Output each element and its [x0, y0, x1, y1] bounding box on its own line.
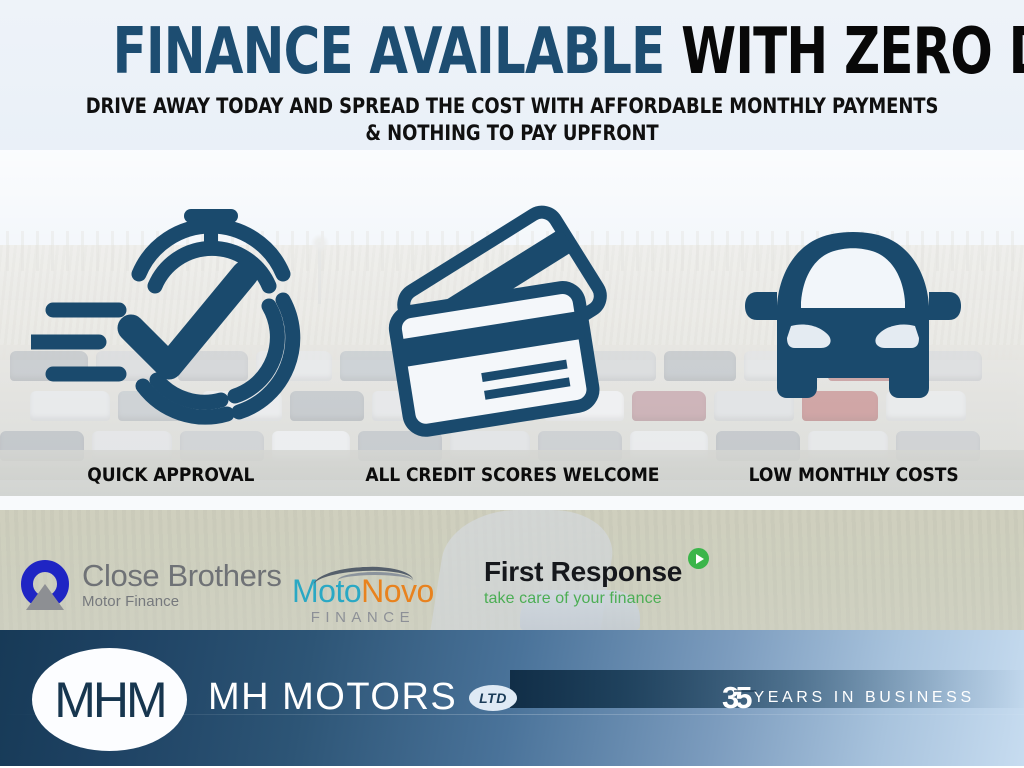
close-brothers-ring-mountain-icon	[18, 558, 72, 612]
subheadline: DRIVE AWAY TODAY AND SPREAD THE COST WIT…	[74, 93, 950, 147]
stopwatch-check-icon	[31, 200, 311, 460]
feature-label: ALL CREDIT SCORES WELCOME	[365, 464, 659, 486]
feature-art	[733, 196, 973, 464]
years-in-business: 35 YEARS IN BUSINESS	[722, 682, 975, 713]
finance-partner-logos: Close Brothers Motor Finance MotoNovo FI…	[0, 552, 1024, 630]
feature-row: QUICK APPROVAL	[0, 196, 1024, 526]
years-label: YEARS IN BUSINESS	[753, 689, 974, 707]
partner-logo-close-brothers: Close Brothers Motor Finance	[18, 558, 281, 612]
ltd-badge: LTD	[469, 685, 517, 711]
page-title: FINANCE AVAILABLE WITH ZERO DEPOSIT	[113, 22, 912, 83]
brand-name: MH MOTORS	[208, 678, 457, 716]
poster-canvas: FINANCE AVAILABLE WITH ZERO DEPOSIT DRIV…	[0, 0, 1024, 768]
partner-tagline: FINANCE	[311, 609, 415, 626]
headline-block: FINANCE AVAILABLE WITH ZERO DEPOSIT DRIV…	[0, 0, 1024, 150]
partner-tagline: take care of your finance	[484, 590, 662, 608]
headline-blue-part: FINANCE AVAILABLE	[113, 15, 665, 89]
credit-cards-icon	[382, 200, 642, 460]
partner-name: First Response	[484, 558, 682, 586]
motonovo-car-swoosh-icon	[307, 560, 419, 578]
feature-label: QUICK APPROVAL	[87, 464, 254, 486]
headline-black-part: WITH ZERO DEPOSIT	[664, 15, 1024, 89]
car-front-icon	[733, 220, 973, 440]
ltd-badge-label: LTD	[479, 690, 507, 706]
years-number: 35	[722, 682, 748, 713]
green-play-icon	[688, 548, 709, 569]
mhm-logo-oval: MHM	[32, 648, 187, 751]
partner-logo-motonovo: MotoNovo FINANCE	[292, 560, 434, 626]
feature-art	[382, 196, 642, 464]
partner-logo-first-response: First Response take care of your finance	[484, 558, 709, 608]
partner-name: Close Brothers	[82, 560, 281, 591]
feature-quick-approval: QUICK APPROVAL	[0, 196, 341, 526]
feature-all-credit-scores: ALL CREDIT SCORES WELCOME	[341, 196, 682, 526]
partner-tagline: Motor Finance	[82, 594, 281, 611]
feature-label: LOW MONTHLY COSTS	[748, 464, 958, 486]
mhm-logo-letters: MHM	[54, 675, 164, 725]
feature-low-monthly-costs: LOW MONTHLY COSTS	[683, 196, 1024, 526]
feature-art	[31, 196, 311, 464]
